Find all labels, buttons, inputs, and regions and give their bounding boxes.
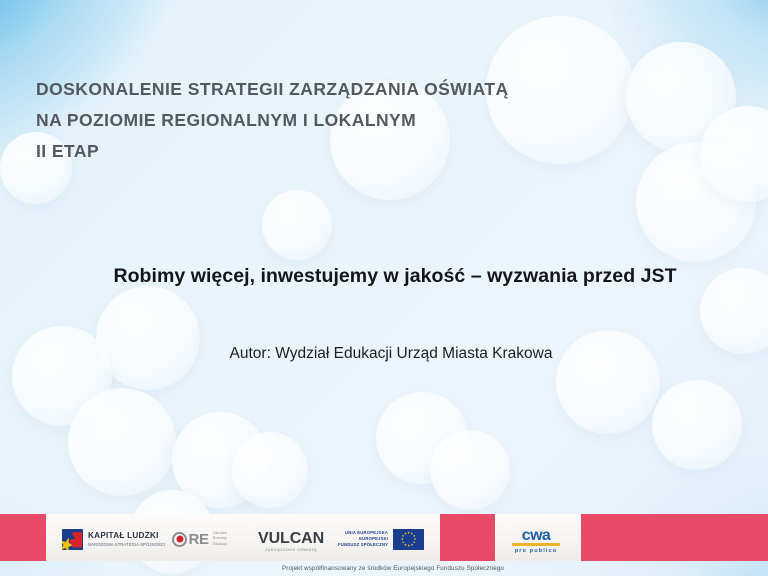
eu-star-icon xyxy=(407,531,410,534)
footer-pink-block-left xyxy=(0,514,46,561)
kapital-ludzki-subtitle: NARODOWA STRATEGIA SPÓJNOŚCI xyxy=(88,541,165,548)
vulcan-name: VULCAN xyxy=(258,530,324,547)
eu-star-icon xyxy=(407,544,410,547)
kapital-ludzki-title: KAPITAŁ LUDZKI xyxy=(88,531,165,541)
eu-star-icon xyxy=(404,532,407,535)
eu-star-icon xyxy=(411,543,414,546)
ore-mark-text: RE xyxy=(189,532,209,547)
eu-star-icon xyxy=(404,543,407,546)
vulcan-subtitle: ZARZĄDZANIE OŚWIATĄ xyxy=(265,547,317,553)
ore-logo: RE Ośrodek Rozwoju Edukacji xyxy=(172,529,227,549)
background-circle-3 xyxy=(636,142,756,262)
corner-glow-top-right xyxy=(598,0,768,140)
eu-star-icon xyxy=(413,541,416,544)
background-circle-11 xyxy=(232,432,308,508)
background-circle-4 xyxy=(700,106,768,202)
eu-star-icon xyxy=(413,535,416,538)
cwa-name: cwa xyxy=(522,528,550,544)
presentation-slide: DOSKONALENIE STRATEGII ZARZĄDZANIA OŚWIA… xyxy=(0,0,768,576)
background-circle-13 xyxy=(430,430,510,510)
slide-title-line-2: NA POZIOMIE REGIONALNYM I LOKALNYM xyxy=(36,105,596,136)
slide-title-line-1: DOSKONALENIE STRATEGII ZARZĄDZANIA OŚWIA… xyxy=(36,74,596,105)
slide-headline: Robimy więcej, inwestujemy w jakość – wy… xyxy=(0,265,768,288)
cwa-logo: cwa pro publico xyxy=(512,528,560,555)
background-circle-9 xyxy=(172,412,268,508)
eu-star-icon xyxy=(401,538,404,541)
eu-flag-icon xyxy=(393,529,424,550)
eu-star-icon xyxy=(402,541,405,544)
cwa-subtitle: pro publico xyxy=(515,547,558,555)
background-circle-8 xyxy=(68,388,176,496)
ore-circle-icon xyxy=(172,532,187,547)
ue-line-3: FUNDUSZ SPOŁECZNY xyxy=(338,542,388,548)
background-circle-17 xyxy=(262,190,332,260)
footer-funding-caption: Projekt współfinansowany ze środków Euro… xyxy=(0,565,768,572)
eu-star-icon xyxy=(411,532,414,535)
kapital-ludzki-star-icon xyxy=(62,529,83,550)
unia-europejska-logo: UNIA EUROPEJSKA EUROPEJSKI FUNDUSZ SPOŁE… xyxy=(338,528,424,550)
footer-pink-block-right xyxy=(581,514,768,561)
eu-star-icon xyxy=(414,538,417,541)
eu-star-icon xyxy=(402,535,405,538)
background-circle-6 xyxy=(96,286,200,390)
background-circle-2 xyxy=(626,42,736,152)
slide-title-line-3: II ETAP xyxy=(36,136,596,167)
ore-line-3: Edukacji xyxy=(213,542,227,547)
vulcan-logo: VULCAN ZARZĄDZANIE OŚWIATĄ xyxy=(258,530,324,553)
background-circle-15 xyxy=(652,380,742,470)
slide-title-block: DOSKONALENIE STRATEGII ZARZĄDZANIA OŚWIA… xyxy=(36,74,596,167)
background-circle-7 xyxy=(12,326,112,426)
kapital-ludzki-logo: KAPITAŁ LUDZKI NARODOWA STRATEGIA SPÓJNO… xyxy=(62,528,165,550)
slide-author: Autor: Wydział Edukacji Urząd Miasta Kra… xyxy=(0,345,768,363)
footer-logo-strip: KAPITAŁ LUDZKI NARODOWA STRATEGIA SPÓJNO… xyxy=(0,514,768,561)
slide-footer: KAPITAŁ LUDZKI NARODOWA STRATEGIA SPÓJNO… xyxy=(0,505,768,576)
background-circle-12 xyxy=(376,392,468,484)
footer-pink-block-middle xyxy=(440,514,495,561)
